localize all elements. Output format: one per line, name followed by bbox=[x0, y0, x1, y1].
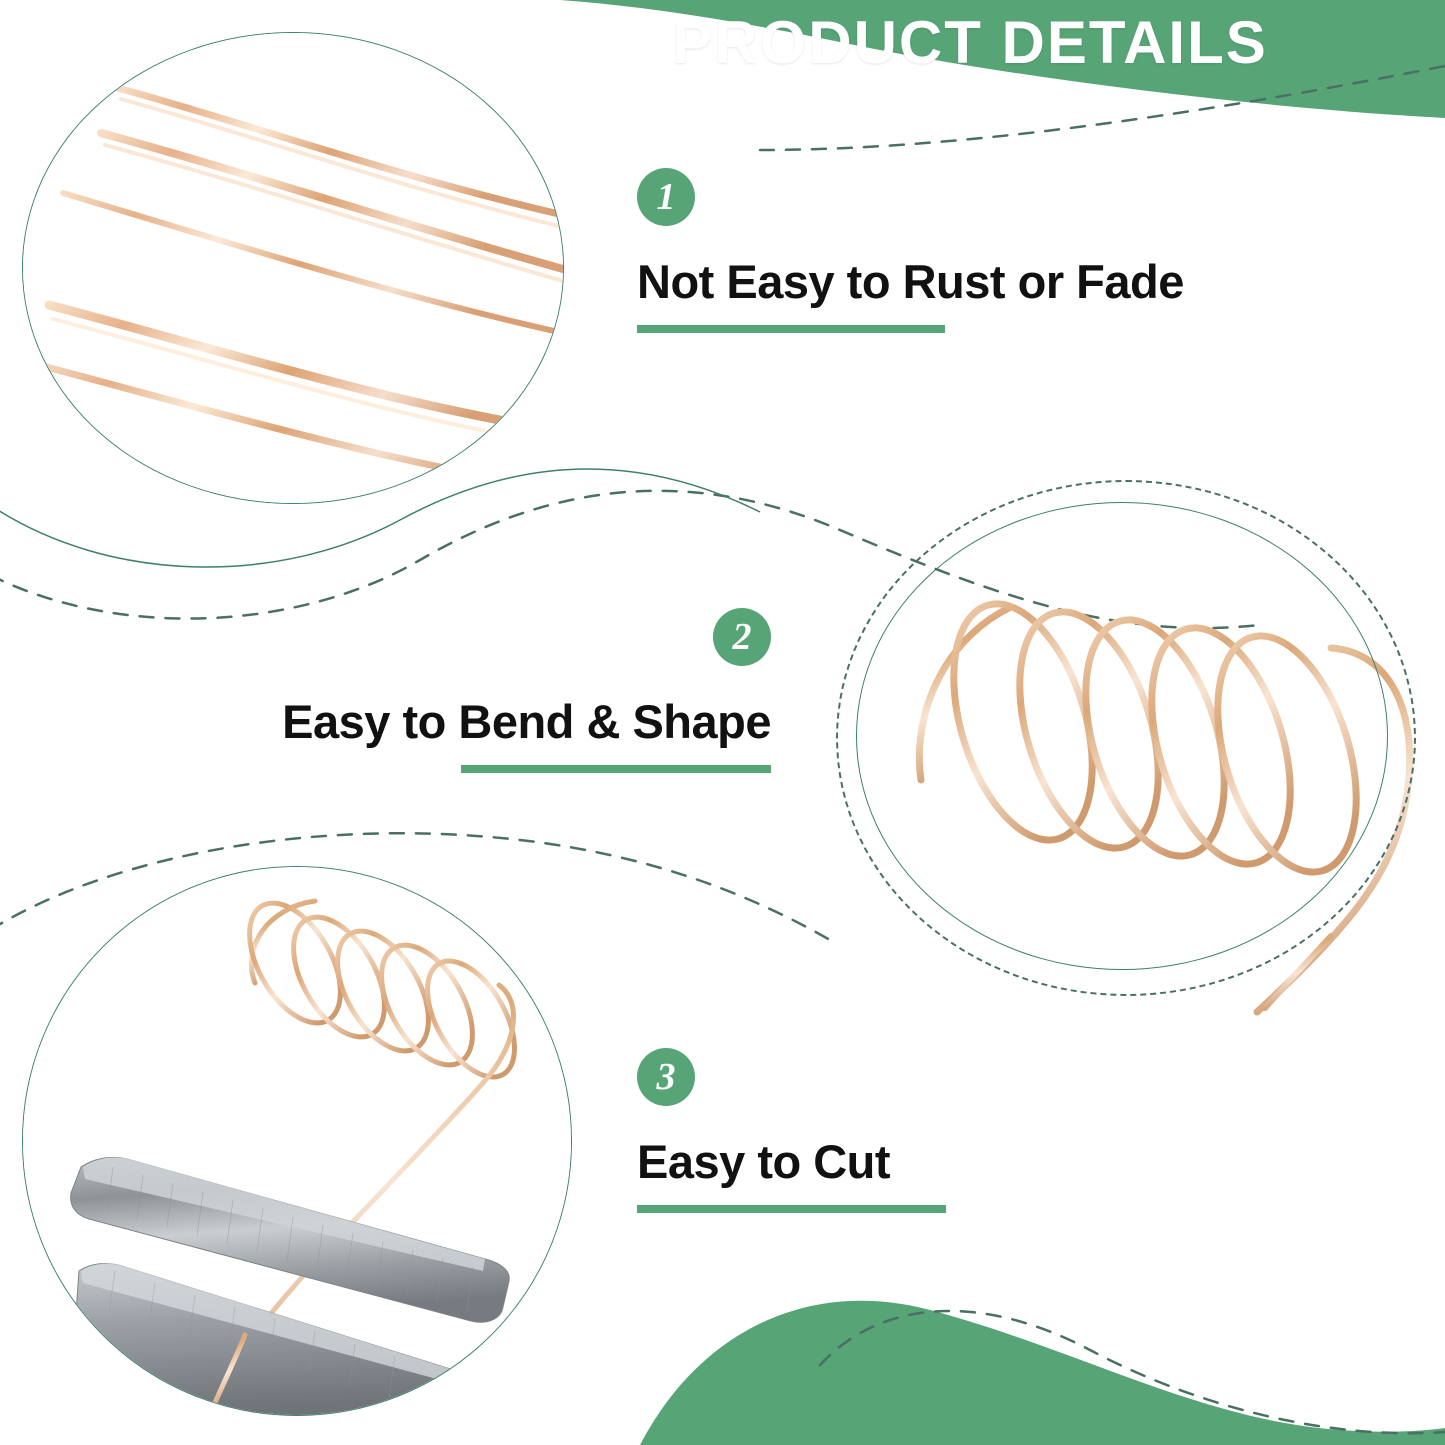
feature-title-1: Not Easy to Rust or Fade bbox=[637, 254, 1237, 309]
product-photo-coiled-spring bbox=[856, 502, 1386, 968]
footer-green-wave bbox=[640, 1301, 1445, 1445]
product-photo-cutting-wire bbox=[22, 866, 572, 1416]
product-photo-wire-strands bbox=[22, 32, 564, 504]
page-title: PRODUCT DETAILS bbox=[620, 8, 1320, 77]
feature-underline-3 bbox=[637, 1205, 946, 1213]
feature-number-badge-2: 2 bbox=[713, 608, 771, 666]
dashed-curve-top bbox=[760, 66, 1445, 150]
feature-number-badge-1: 1 bbox=[637, 168, 695, 226]
feature-underline-1 bbox=[637, 325, 945, 333]
feature-block-3: 3 Easy to Cut bbox=[637, 1048, 1237, 1213]
feature-underline-2 bbox=[461, 765, 771, 773]
product-details-infographic: PRODUCT DETAILS 1 Not Easy to Rust or Fa… bbox=[0, 0, 1445, 1445]
feature-title-2: Easy to Bend & Shape bbox=[240, 694, 771, 749]
dashed-curve-bottom bbox=[820, 1311, 1445, 1433]
coiled-wire-spring bbox=[919, 587, 1409, 1012]
feature-block-1: 1 Not Easy to Rust or Fade bbox=[637, 168, 1237, 333]
feature-block-2: 2 Easy to Bend & Shape bbox=[240, 608, 771, 773]
feature-number-badge-3: 3 bbox=[637, 1048, 695, 1106]
feature-title-3: Easy to Cut bbox=[637, 1134, 1237, 1189]
